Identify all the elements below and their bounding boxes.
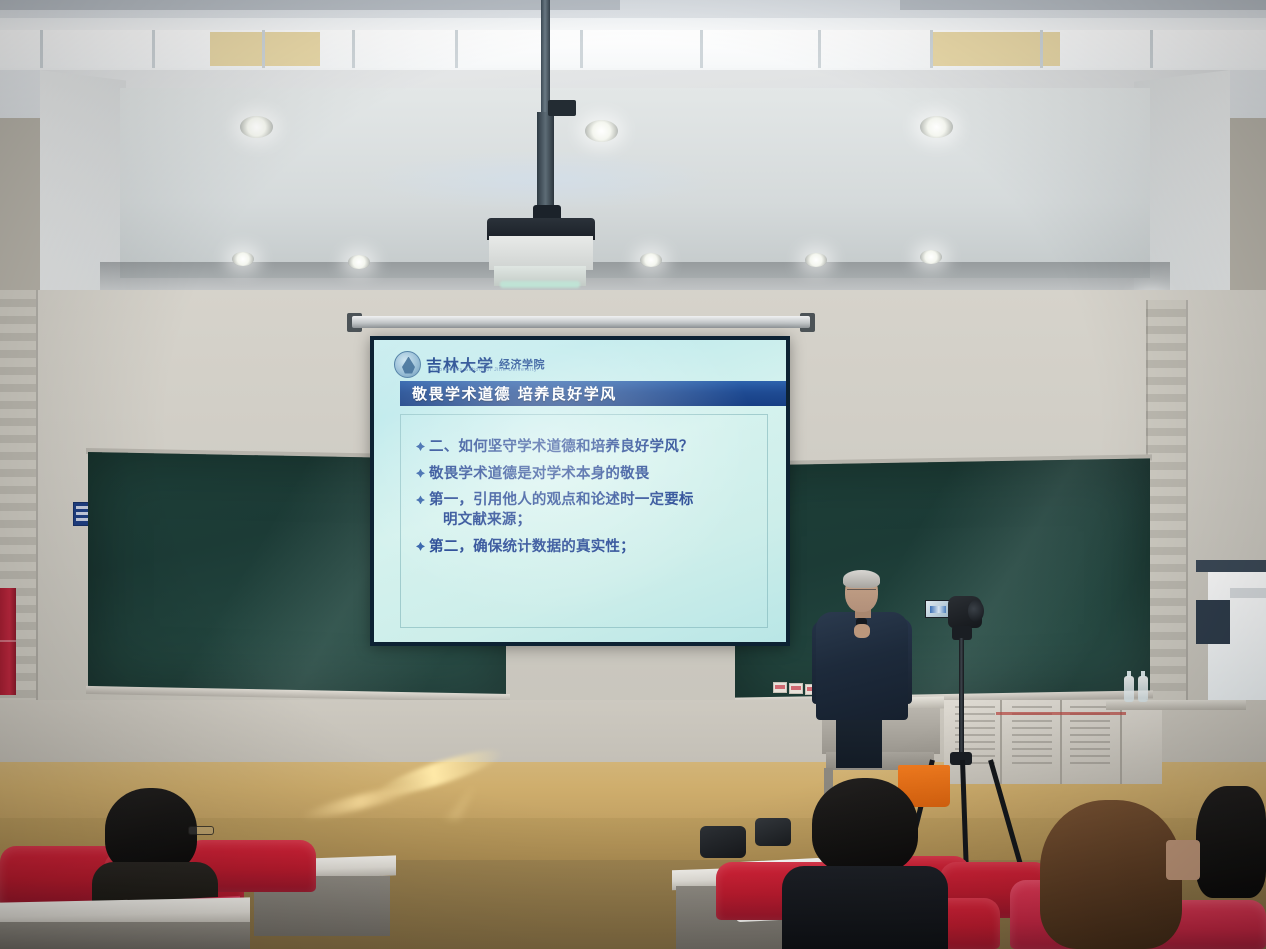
logo-english-name: Economics School of Jilin University [432, 367, 537, 373]
cabinet-red-stripe [996, 712, 1126, 715]
bullet-text-line1: 第一，引用他人的观点和论述时一定要标 [429, 491, 694, 508]
list-item: 第二，确保统计数据的真实性； [409, 537, 761, 557]
slide-logo: 吉林大学 经济学院 [394, 346, 545, 382]
window-mullion [700, 30, 703, 68]
diamond-bullet-icon [415, 494, 426, 505]
camera-lens-icon [968, 600, 984, 622]
ceiling-downlight-icon [348, 255, 370, 269]
bullet-text: 第一，引用他人的观点和论述时一定要标 明文献来源； [429, 490, 761, 529]
window-mullion [1040, 30, 1043, 68]
cabinet-vent [1012, 706, 1052, 766]
clerestory-window-strip [0, 30, 1266, 68]
acoustic-rib-panel-right [1146, 300, 1186, 700]
diamond-bullet-icon [415, 441, 426, 452]
black-bag-secondary [755, 818, 791, 846]
diamond-bullet-icon [415, 541, 426, 552]
side-window-header [1196, 560, 1266, 572]
side-window-frame [1196, 600, 1230, 644]
slide-title-bar: 敬畏学术道德 培养良好学风 [400, 381, 786, 406]
ceiling-beam [0, 0, 300, 10]
ceiling-downlight-icon [640, 253, 662, 267]
student-glasses-icon [188, 826, 214, 835]
presenter-legs [836, 716, 882, 768]
window-mullion [580, 30, 583, 68]
slide-surface: 吉林大学 经济学院 Economics School of Jilin Univ… [374, 340, 786, 642]
student-shoulders [782, 866, 948, 949]
chalk-box [789, 683, 803, 694]
window-mullion [352, 30, 355, 68]
window-mullion [40, 30, 43, 68]
window-mullion [262, 30, 265, 68]
student-head [812, 778, 918, 874]
chalk-box [773, 682, 787, 693]
screen-roller-housing [352, 316, 810, 328]
window-mullion [455, 30, 458, 68]
student-head-long-hair [1040, 800, 1182, 949]
presenter-hand [854, 624, 870, 638]
diamond-bullet-icon [415, 468, 426, 479]
student-neck [1166, 840, 1200, 880]
projection-screen: 吉林大学 经济学院 Economics School of Jilin Univ… [370, 336, 790, 646]
slide-title: 敬畏学术道德 培养良好学风 [400, 383, 617, 404]
ceiling-downlight-icon [240, 116, 273, 138]
projector-pole-lower [537, 112, 554, 216]
lecture-hall-photo: 吉林大学 经济学院 Economics School of Jilin Univ… [0, 0, 1266, 949]
side-window-latch [1230, 588, 1266, 598]
projector-body [489, 236, 593, 270]
bullet-text: 第二，确保统计数据的真实性； [429, 537, 761, 557]
student-desk-front-underside [0, 922, 250, 949]
black-bag [700, 826, 746, 858]
bullet-text: 敬畏学术道德是对学术本身的敬畏 [429, 464, 761, 484]
bullet-text-line2: 明文献来源； [429, 510, 761, 530]
ceiling-downlight-icon [232, 252, 254, 266]
window-mullion [152, 30, 155, 68]
ceiling-beam [900, 0, 1266, 10]
cable-clamp-icon [548, 100, 576, 116]
fire-cabinet-divider [0, 640, 16, 642]
window-mullion [818, 30, 821, 68]
list-item: 二、如何坚守学术道德和培养良好学风？ [409, 437, 761, 457]
window-mullion [930, 30, 933, 68]
ceiling-downlight-icon [920, 250, 942, 264]
shield-logo-icon [394, 351, 421, 378]
presenter-hair [843, 570, 880, 588]
ceiling-downlight-icon [920, 116, 953, 138]
camcorder-lcd-screen [925, 600, 950, 618]
wall-seam [36, 290, 38, 710]
student-head [1196, 786, 1266, 898]
water-bottle [1124, 676, 1134, 702]
window-mullion [1150, 30, 1153, 68]
presenter-glasses-icon [847, 589, 876, 595]
ceiling-soffit-inner [120, 88, 1150, 278]
ceiling-beam [300, 0, 620, 10]
bullet-text: 二、如何坚守学术道德和培养良好学风？ [429, 437, 761, 457]
cabinet-vent [1070, 706, 1110, 766]
list-item: 第一，引用他人的观点和论述时一定要标 明文献来源； [409, 490, 761, 529]
wall-seam [1186, 300, 1188, 700]
far-wall-warm-patch [210, 32, 320, 66]
list-item: 敬畏学术道德是对学术本身的敬畏 [409, 464, 761, 484]
blackboard-right [735, 458, 1150, 700]
tripod-center-column [959, 638, 964, 760]
water-bottle [1138, 676, 1148, 702]
projector-lens-glow [500, 281, 580, 288]
ceiling-downlight-icon [805, 253, 827, 267]
slide-bullet-list: 二、如何坚守学术道德和培养良好学风？ 敬畏学术道德是对学术本身的敬畏 第一，引用… [409, 437, 761, 557]
slide-body: 二、如何坚守学术道德和培养良好学风？ 敬畏学术道德是对学术本身的敬畏 第一，引用… [400, 414, 768, 628]
ceiling-downlight-icon [585, 120, 618, 142]
